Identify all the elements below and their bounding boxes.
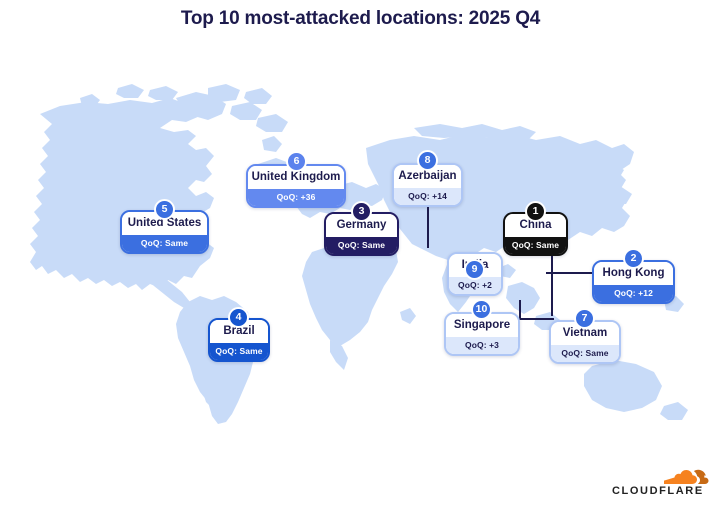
marker-qoq-china: QoQ: Same bbox=[505, 237, 566, 254]
connector-singapore bbox=[520, 318, 554, 320]
connector-vietnam bbox=[551, 256, 553, 316]
rank-badge-brazil[interactable]: 4 bbox=[228, 307, 249, 328]
marker-qoq-azerbaijan: QoQ: +14 bbox=[394, 188, 461, 205]
rank-badge-united-kingdom[interactable]: 6 bbox=[286, 151, 307, 172]
marker-qoq-united-kingdom: QoQ: +36 bbox=[248, 189, 344, 206]
rank-badge-vietnam[interactable]: 7 bbox=[574, 308, 595, 329]
rank-badge-china[interactable]: 1 bbox=[525, 201, 546, 222]
rank-badge-azerbaijan[interactable]: 8 bbox=[417, 150, 438, 171]
connector-china-anchor bbox=[519, 300, 521, 320]
infographic-map-page: Top 10 most-attacked locations: 2025 Q4 bbox=[0, 0, 721, 510]
rank-badge-hong-kong[interactable]: 2 bbox=[623, 248, 644, 269]
marker-qoq-brazil: QoQ: Same bbox=[210, 343, 268, 360]
marker-qoq-hong-kong: QoQ: +12 bbox=[594, 285, 673, 302]
marker-qoq-vietnam: QoQ: Same bbox=[551, 345, 619, 362]
rank-badge-singapore[interactable]: 10 bbox=[471, 299, 492, 320]
connector-azerbaijan bbox=[427, 200, 429, 248]
rank-badge-india[interactable]: 9 bbox=[464, 259, 485, 280]
cloudflare-logo: CLOUDFLARE bbox=[612, 468, 712, 500]
marker-qoq-united-states: QoQ: Same bbox=[122, 235, 207, 252]
marker-qoq-singapore: QoQ: +3 bbox=[446, 337, 518, 354]
cloudflare-wordmark: CLOUDFLARE bbox=[612, 485, 704, 497]
rank-badge-united-states[interactable]: 5 bbox=[154, 199, 175, 220]
marker-qoq-germany: QoQ: Same bbox=[326, 237, 397, 254]
page-title: Top 10 most-attacked locations: 2025 Q4 bbox=[0, 8, 721, 30]
rank-badge-germany[interactable]: 3 bbox=[351, 201, 372, 222]
